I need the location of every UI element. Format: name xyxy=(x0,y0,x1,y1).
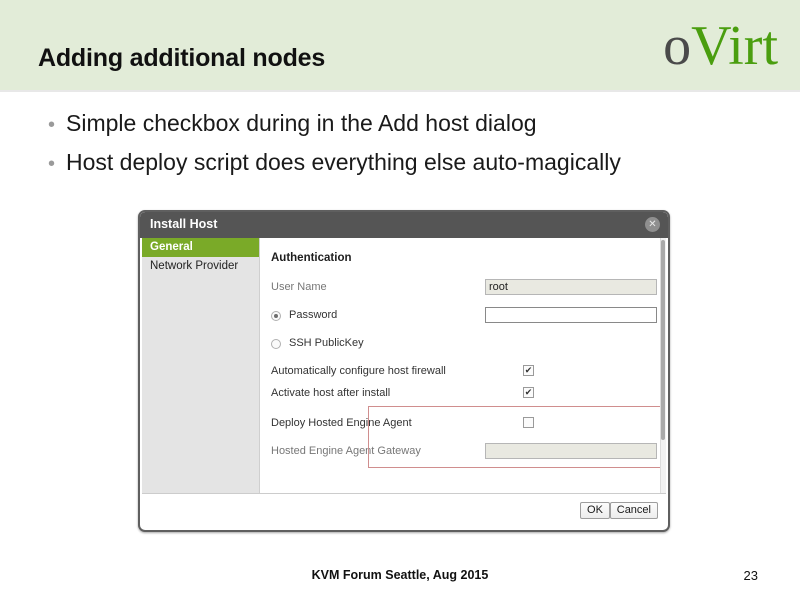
page-title: Adding additional nodes xyxy=(38,44,325,73)
scrollbar-thumb[interactable] xyxy=(661,240,665,440)
dialog-content-pane: Authentication User Name root Password S… xyxy=(261,238,666,494)
password-radio[interactable] xyxy=(271,311,281,321)
close-icon[interactable]: ✕ xyxy=(645,217,660,232)
dialog-titlebar: Install Host ✕ xyxy=(140,212,668,238)
form-row-deploy-hosted-engine: Deploy Hosted Engine Agent xyxy=(271,416,652,434)
slide-page-number: 23 xyxy=(744,568,758,583)
list-item: • Simple checkbox during in the Add host… xyxy=(40,110,770,137)
form-row-auto-firewall: Automatically configure host firewall ✔ xyxy=(271,364,652,382)
logo-o-glyph: o xyxy=(663,15,691,77)
auto-firewall-checkbox[interactable]: ✔ xyxy=(523,365,534,376)
sidebar-item-network-provider[interactable]: Network Provider xyxy=(142,257,259,276)
password-label: Password xyxy=(289,309,337,321)
slide-footer-text: KVM Forum Seattle, Aug 2015 xyxy=(0,568,800,582)
hosted-engine-gateway-input[interactable] xyxy=(485,443,657,459)
list-item: • Host deploy script does everything els… xyxy=(40,149,770,176)
form-row-password: Password xyxy=(271,308,652,326)
bullet-text: Simple checkbox during in the Add host d… xyxy=(66,110,537,137)
ssh-publickey-label: SSH PublicKey xyxy=(289,337,364,349)
user-name-input[interactable]: root xyxy=(485,279,657,295)
hosted-engine-gateway-label: Hosted Engine Agent Gateway xyxy=(271,445,421,457)
slide-header-band: Adding additional nodes oVirt xyxy=(0,0,800,92)
form-row-ssh-publickey: SSH PublicKey xyxy=(271,336,652,354)
activate-host-label: Activate host after install xyxy=(271,387,390,399)
ovirt-logo: oVirt xyxy=(663,18,778,74)
bullet-marker-icon: • xyxy=(40,154,66,174)
password-input[interactable] xyxy=(485,307,657,323)
activate-host-checkbox[interactable]: ✔ xyxy=(523,387,534,398)
form-row-user-name: User Name root xyxy=(271,280,652,298)
install-host-dialog: Install Host ✕ General Network Provider … xyxy=(138,210,670,532)
sidebar-item-general[interactable]: General xyxy=(142,238,259,257)
form-row-activate-host: Activate host after install ✔ xyxy=(271,386,652,404)
ok-button[interactable]: OK xyxy=(580,502,610,519)
bullet-text: Host deploy script does everything else … xyxy=(66,149,621,176)
form-row-hosted-engine-gateway: Hosted Engine Agent Gateway xyxy=(271,444,652,462)
dialog-title: Install Host xyxy=(150,217,217,231)
deploy-hosted-engine-label: Deploy Hosted Engine Agent xyxy=(271,417,412,429)
ssh-publickey-radio[interactable] xyxy=(271,339,281,349)
user-name-label: User Name xyxy=(271,281,327,293)
dialog-nav-panel: General Network Provider xyxy=(142,238,260,494)
cancel-button[interactable]: Cancel xyxy=(610,502,658,519)
deploy-hosted-engine-checkbox[interactable] xyxy=(523,417,534,428)
auto-firewall-label: Automatically configure host firewall xyxy=(271,365,446,377)
bullet-list: • Simple checkbox during in the Add host… xyxy=(40,110,770,188)
bullet-marker-icon: • xyxy=(40,115,66,135)
content-scrollbar[interactable] xyxy=(660,238,666,494)
dialog-footer: OK Cancel xyxy=(142,493,666,528)
section-heading-authentication: Authentication xyxy=(271,252,352,264)
logo-virt-glyph: Virt xyxy=(691,15,778,77)
